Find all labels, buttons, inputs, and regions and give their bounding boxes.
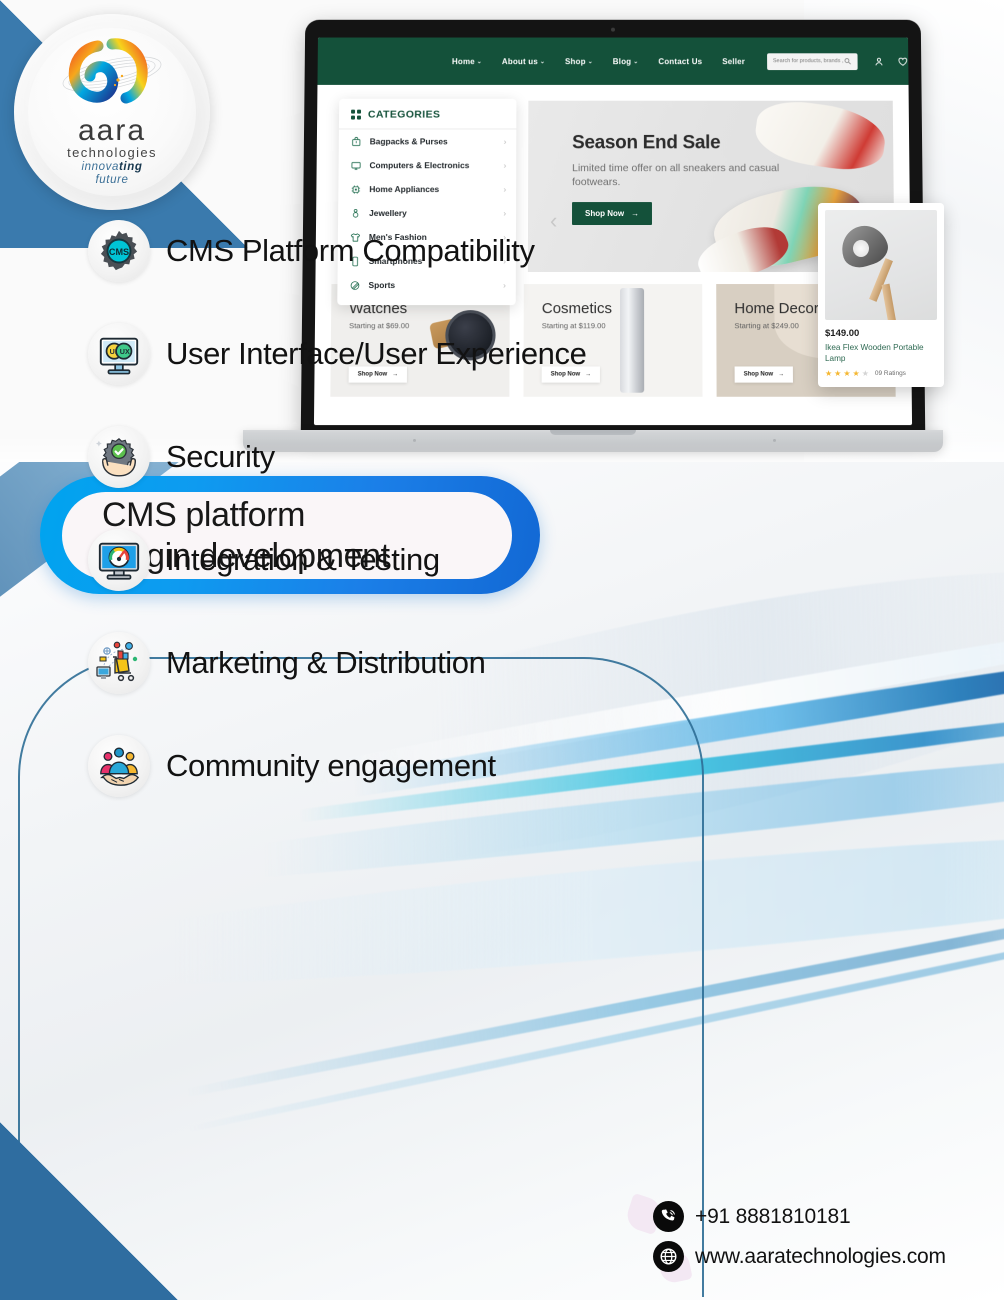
product-price: $149.00 [825,328,937,339]
nav-item-about-us[interactable]: About us ⌄ [502,57,545,66]
logo-wordmark: aara [52,117,172,146]
site-navigation: Home ⌄ About us ⌄ Shop ⌄ Blog [452,57,745,66]
marketing-cart-icon [88,632,150,694]
aara-ribbon-mark [52,36,172,114]
feature-label: CMS Platform Compatibility [166,233,535,269]
chevron-down-icon: ⌄ [540,58,545,65]
bottom-left-corner-triangle [0,1114,200,1300]
chevron-down-icon: ⌄ [477,58,482,65]
wishlist-heart-icon[interactable] [897,56,908,67]
feature-item-cms-compatibility: CMS CMS Platform Compatibility [88,220,788,282]
contact-website-row[interactable]: www.aaratechnologies.com [653,1241,946,1272]
category-item-computers[interactable]: Computers & Electronics › [338,153,516,177]
feature-label: User Interface/User Experience [166,336,586,372]
bag-icon [351,136,362,147]
star-icon: ★ [843,369,850,378]
star-icon: ★ [825,369,832,378]
chevron-right-icon: › [503,185,506,194]
nav-item-seller[interactable]: Seller [722,57,745,66]
arrow-right-icon: → [631,209,639,218]
monitor-gauge-icon [88,529,150,591]
logo-subtitle: technologies [52,146,172,160]
chip-icon [350,184,361,195]
hands-shield-gear-icon [88,426,150,488]
feature-item-marketing-distribution: Marketing & Distribution [88,632,788,694]
category-item-bagpacks[interactable]: Bagpacks & Purses › [339,129,517,153]
nav-item-home[interactable]: Home ⌄ [452,57,482,66]
category-label: Computers & Electronics [369,160,495,170]
header-icon-group [873,52,912,70]
feature-label: Community engagement [166,748,496,784]
svg-text:UX: UX [120,348,130,356]
hero-title: Season End Sale [572,132,821,154]
product-image [825,210,937,320]
chevron-right-icon: › [504,161,507,170]
featured-product-card[interactable]: $149.00 Ikea Flex Wooden Portable Lamp ★… [818,203,944,387]
star-icon: ★ [853,369,860,378]
categories-title: CATEGORIES [368,109,440,121]
feature-item-ui-ux: UI UX User Interface/User Experience [88,323,788,385]
product-rating: ★ ★ ★ ★ ★ 09 Ratings [825,369,937,378]
nav-item-shop[interactable]: Shop ⌄ [565,57,593,66]
category-label: Home Appliances [369,184,495,194]
star-icon: ★ [834,369,841,378]
chevron-right-icon: › [503,209,506,218]
svg-text:CMS: CMS [109,247,129,257]
company-logo-badge: aara technologies innovating future [14,14,210,210]
site-header: Home ⌄ About us ⌄ Shop ⌄ Blog [317,38,908,85]
monitor-icon [351,160,362,171]
globe-icon [653,1241,684,1272]
feature-label: Marketing & Distribution [166,645,485,681]
search-bar[interactable] [767,53,858,70]
ring-icon [350,208,361,219]
categories-header: CATEGORIES [339,109,516,130]
search-icon[interactable] [843,57,851,65]
contact-footer: +91 8881810181 www.aaratechnologies.com [653,1201,946,1272]
phone-number: +91 8881810181 [695,1205,850,1229]
grid-icon [351,110,361,120]
svg-text:UI: UI [110,348,117,356]
hero-text-block: Season End Sale Limited time offer on al… [572,132,822,225]
category-label: Jewellery [369,208,495,218]
people-handshake-icon [88,735,150,797]
phone-call-icon [653,1201,684,1232]
logo-tagline: innovating future [52,161,172,187]
feature-item-security: Security [88,426,788,488]
nav-item-blog[interactable]: Blog ⌄ [613,57,639,66]
category-label: Bagpacks & Purses [370,136,496,146]
feature-label: Integration & Testing [166,542,440,578]
cms-gear-icon: CMS [88,220,150,282]
chevron-down-icon: ⌄ [633,58,638,65]
webcam-icon [611,28,615,32]
rating-count: 09 Ratings [875,370,906,377]
nav-item-contact-us[interactable]: Contact Us [658,57,702,66]
website-url: www.aaratechnologies.com [695,1245,946,1269]
feature-item-community-engagement: Community engagement [88,735,788,797]
chevron-right-icon: › [504,137,507,146]
account-icon[interactable] [873,56,884,67]
search-input[interactable] [773,58,844,64]
category-item-home-appliances[interactable]: Home Appliances › [338,177,516,201]
hero-subtitle: Limited time offer on all sneakers and c… [572,161,822,189]
chevron-down-icon: ⌄ [588,58,593,65]
feature-item-integration-testing: Integration & Testing [88,529,788,591]
contact-phone-row[interactable]: +91 8881810181 [653,1201,946,1232]
ui-ux-monitor-icon: UI UX [88,323,150,385]
product-name: Ikea Flex Wooden Portable Lamp [825,342,937,364]
feature-label: Security [166,439,275,475]
star-icon-empty: ★ [862,369,869,378]
features-list: CMS CMS Platform Compatibility UI UX Use… [88,220,788,797]
